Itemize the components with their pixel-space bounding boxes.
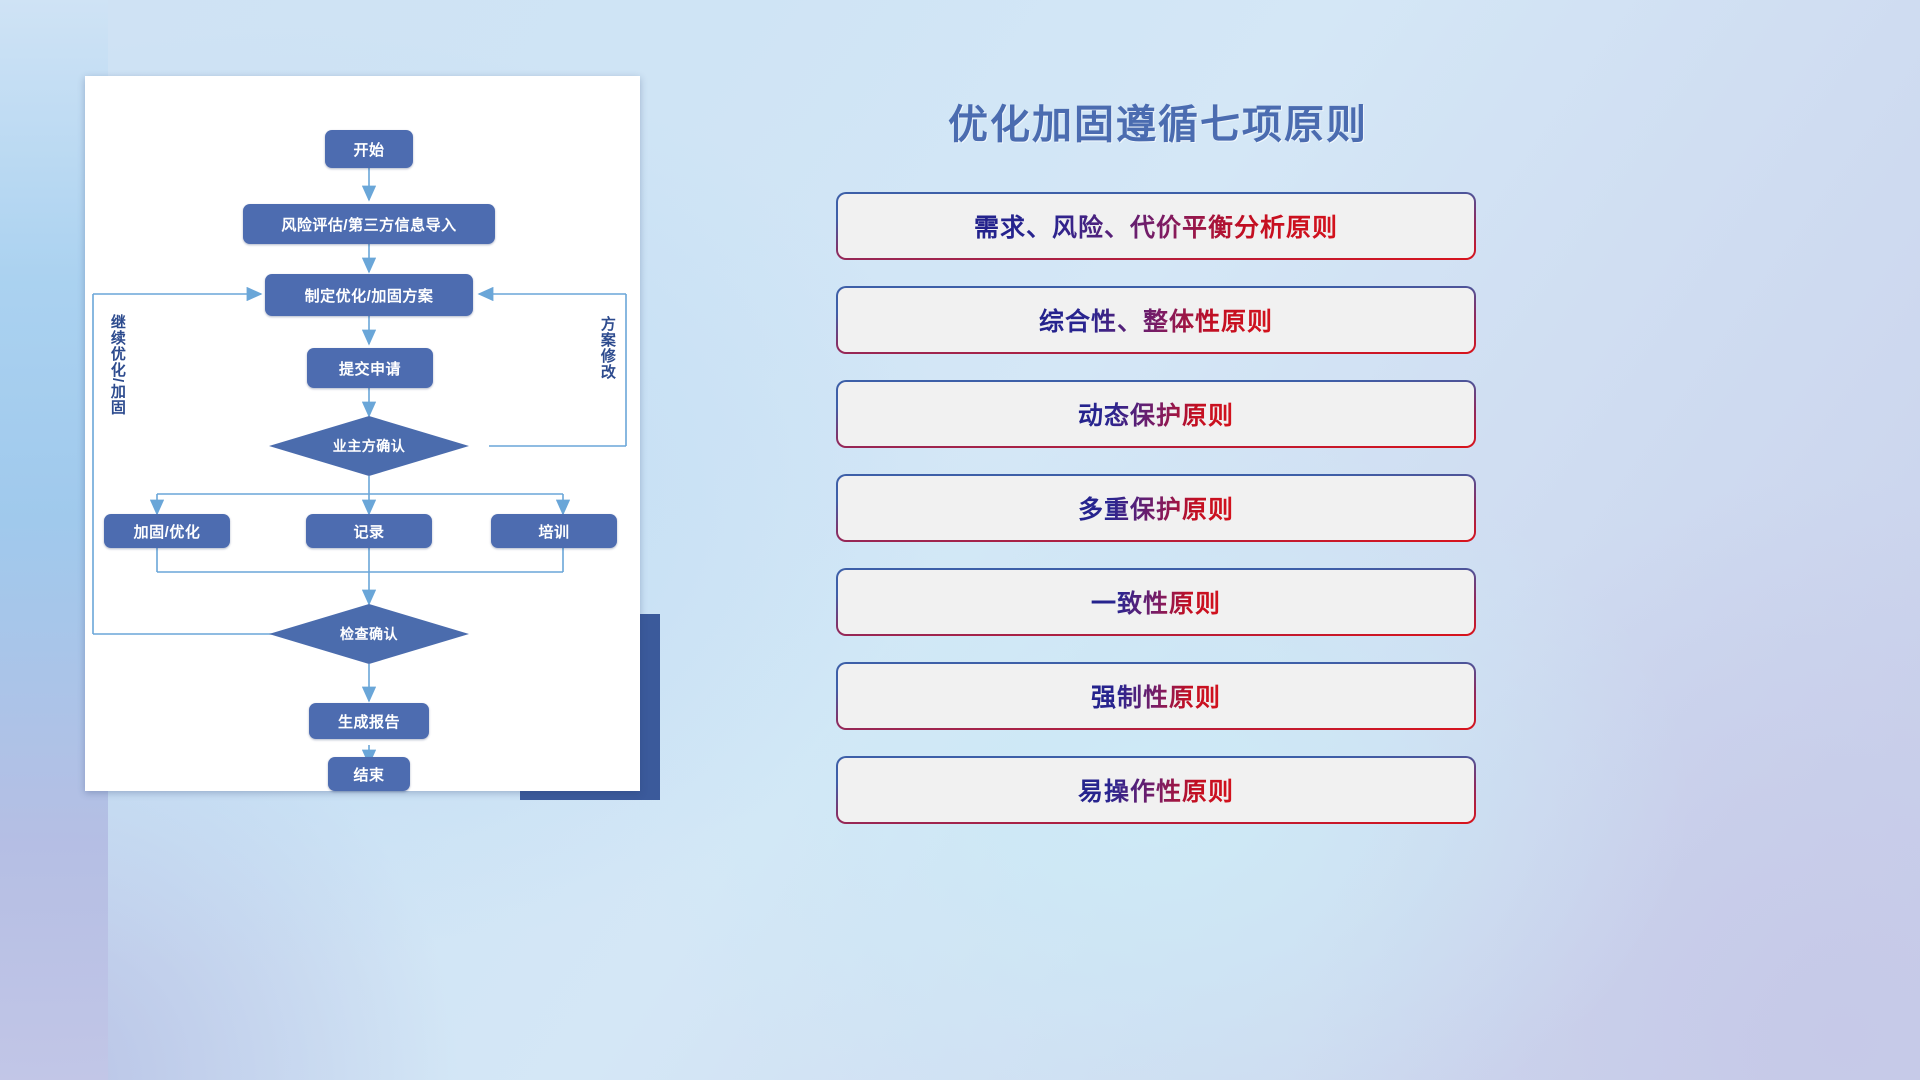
flow-node-label: 记录 [353,521,384,542]
principle-card[interactable]: 动态保护原则 [836,380,1476,448]
flow-node-plan[interactable]: 制定优化/加固方案 [265,274,473,316]
principle-card[interactable]: 多重保护原则 [836,474,1476,542]
principle-card-label: 动态保护原则 [1078,396,1234,432]
edge-label-left: 继续优化/加固 [109,314,125,454]
flow-node-end[interactable]: 结束 [328,757,410,791]
principle-card-label: 强制性原则 [1091,678,1221,714]
flow-node-label: 结束 [353,764,384,785]
flow-node-label: 培训 [538,521,569,542]
flow-node-label: 开始 [353,139,384,160]
principle-card-list: 需求、风险、代价平衡分析原则 综合性、整体性原则 动态保护原则 多重保护原则 一… [836,192,1476,850]
flow-node-label: 风险评估/第三方信息导入 [281,214,456,235]
principle-card-label: 多重保护原则 [1078,490,1234,526]
flow-node-reinforce[interactable]: 加固/优化 [104,514,230,548]
flow-node-record[interactable]: 记录 [306,514,432,548]
flow-node-label: 生成报告 [338,711,400,732]
principle-card-label: 易操作性原则 [1078,772,1234,808]
slide-background: 继续优化/加固 方案修改 开始 风险评估/第三方信息导入 制定优化/加固方案 提… [0,0,1920,1080]
edge-label-right: 方案修改 [599,316,615,420]
flow-node-label: 检查确认 [269,604,469,664]
flowchart-card: 继续优化/加固 方案修改 开始 风险评估/第三方信息导入 制定优化/加固方案 提… [85,76,640,791]
flow-node-label: 加固/优化 [134,521,201,542]
flow-node-training[interactable]: 培训 [491,514,617,548]
flow-node-start[interactable]: 开始 [325,130,413,168]
flow-node-label: 提交申请 [339,358,401,379]
principle-card-label: 综合性、整体性原则 [1039,302,1273,338]
principle-card[interactable]: 易操作性原则 [836,756,1476,824]
principle-card-label: 需求、风险、代价平衡分析原则 [974,208,1338,244]
principle-card[interactable]: 强制性原则 [836,662,1476,730]
flow-node-label: 业主方确认 [269,416,469,476]
flow-decision-check[interactable]: 检查确认 [269,604,469,664]
flow-node-risk-assessment[interactable]: 风险评估/第三方信息导入 [243,204,495,244]
flow-node-submit[interactable]: 提交申请 [307,348,433,388]
principle-card[interactable]: 需求、风险、代价平衡分析原则 [836,192,1476,260]
flow-node-report[interactable]: 生成报告 [309,703,429,739]
principle-card[interactable]: 一致性原则 [836,568,1476,636]
principle-card[interactable]: 综合性、整体性原则 [836,286,1476,354]
flow-decision-owner-confirm[interactable]: 业主方确认 [269,416,469,476]
principle-card-label: 一致性原则 [1091,584,1221,620]
flow-node-label: 制定优化/加固方案 [305,285,434,306]
page-title: 优化加固遵循七项原则 [838,92,1478,150]
